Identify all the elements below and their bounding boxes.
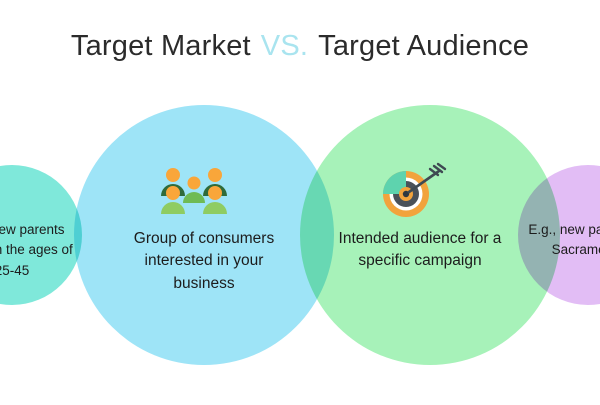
page-title: Target MarketVS.Target Audience [0, 30, 600, 63]
group-of-people-icon [158, 166, 230, 218]
infographic-canvas: Target MarketVS.Target Audience [0, 0, 600, 405]
venn-label-left-small: E.g., new parents between the ages of 25… [0, 220, 76, 281]
target-with-arrow-icon [376, 162, 448, 220]
venn-label-target-audience: Intended audience for a specific campaig… [328, 228, 512, 273]
title-left-term: Target Market [71, 30, 251, 62]
venn-label-right-small: E.g., new parents in Sacramento [524, 220, 600, 261]
title-vs-separator: VS. [251, 30, 318, 62]
venn-label-target-market: Group of consumers interested in your bu… [112, 228, 296, 295]
title-right-term: Target Audience [318, 30, 529, 62]
